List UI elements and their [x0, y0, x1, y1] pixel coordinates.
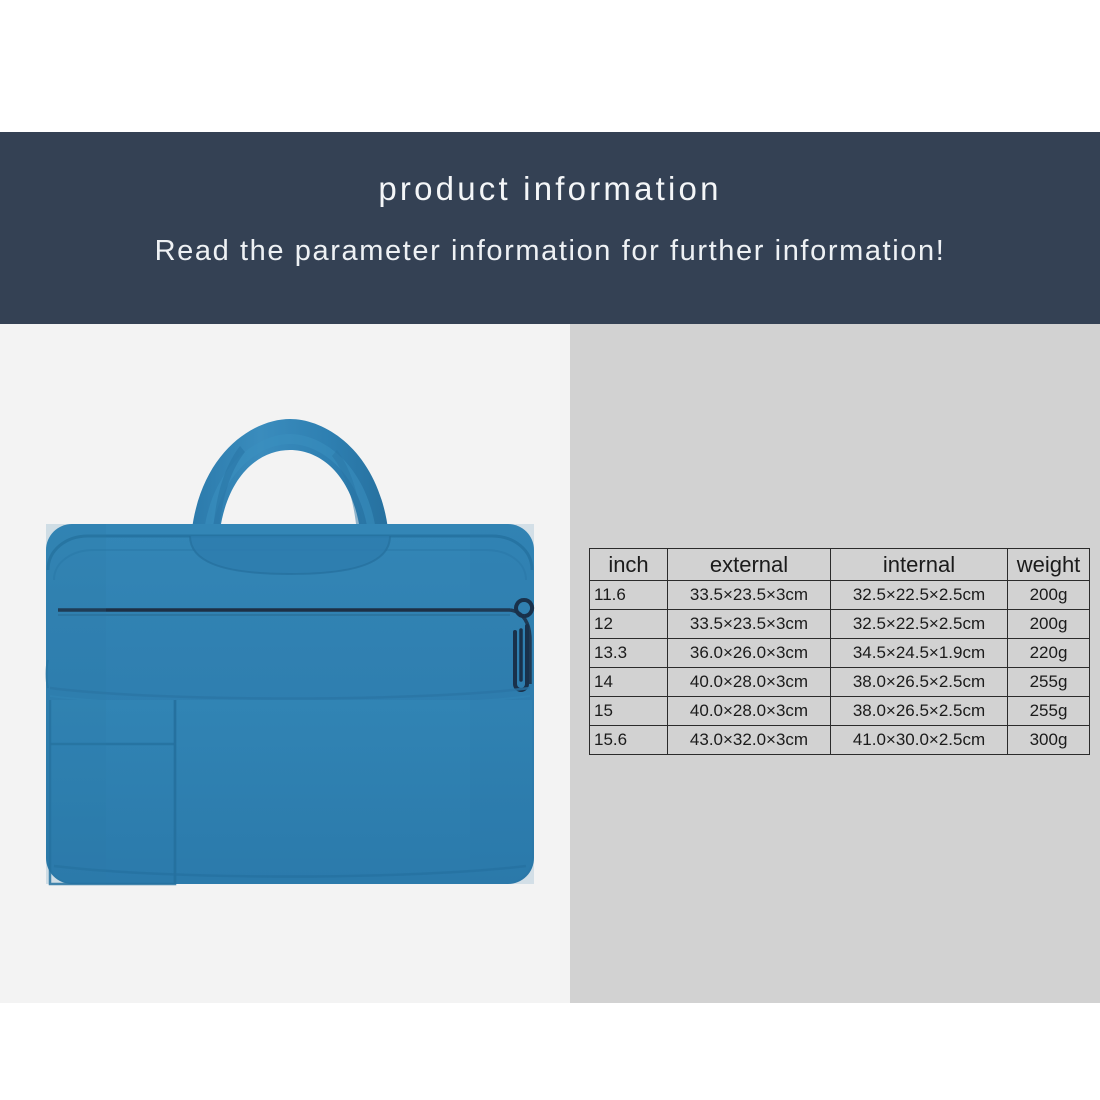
cell-external: 40.0×28.0×3cm: [668, 668, 831, 697]
cell-weight: 200g: [1008, 610, 1090, 639]
cell-weight: 300g: [1008, 726, 1090, 755]
product-image-panel: [0, 324, 570, 1003]
table-row: 13.3 36.0×26.0×3cm 34.5×24.5×1.9cm 220g: [590, 639, 1090, 668]
cell-weight: 200g: [1008, 581, 1090, 610]
page-title: product information: [0, 170, 1100, 208]
cell-internal: 38.0×26.5×2.5cm: [831, 668, 1008, 697]
cell-external: 36.0×26.0×3cm: [668, 639, 831, 668]
cell-inch: 14: [590, 668, 668, 697]
table-row: 15 40.0×28.0×3cm 38.0×26.5×2.5cm 255g: [590, 697, 1090, 726]
cell-weight: 255g: [1008, 697, 1090, 726]
content-area: inch external internal weight 11.6 33.5×…: [0, 324, 1100, 1003]
laptop-bag-illustration: [40, 384, 540, 924]
spec-table-wrapper: inch external internal weight 11.6 33.5×…: [589, 548, 1089, 755]
column-header-external: external: [668, 549, 831, 581]
cell-internal: 38.0×26.5×2.5cm: [831, 697, 1008, 726]
cell-internal: 34.5×24.5×1.9cm: [831, 639, 1008, 668]
cell-inch: 12: [590, 610, 668, 639]
cell-external: 33.5×23.5×3cm: [668, 581, 831, 610]
table-row: 12 33.5×23.5×3cm 32.5×22.5×2.5cm 200g: [590, 610, 1090, 639]
cell-internal: 41.0×30.0×2.5cm: [831, 726, 1008, 755]
table-row: 15.6 43.0×32.0×3cm 41.0×30.0×2.5cm 300g: [590, 726, 1090, 755]
top-white-band: [0, 0, 1100, 132]
cell-weight: 220g: [1008, 639, 1090, 668]
cell-external: 33.5×23.5×3cm: [668, 610, 831, 639]
bag-front-pocket: [48, 700, 532, 884]
cell-external: 40.0×28.0×3cm: [668, 697, 831, 726]
cell-inch: 11.6: [590, 581, 668, 610]
cell-weight: 255g: [1008, 668, 1090, 697]
cell-inch: 15: [590, 697, 668, 726]
table-row: 14 40.0×28.0×3cm 38.0×26.5×2.5cm 255g: [590, 668, 1090, 697]
product-information-page: product information Read the parameter i…: [0, 0, 1100, 1100]
page-subtitle: Read the parameter information for furth…: [0, 235, 1100, 268]
column-header-inch: inch: [590, 549, 668, 581]
cell-inch: 13.3: [590, 639, 668, 668]
header-banner: product information Read the parameter i…: [0, 132, 1100, 324]
laptop-bag-image: [40, 384, 540, 924]
cell-internal: 32.5×22.5×2.5cm: [831, 610, 1008, 639]
column-header-internal: internal: [831, 549, 1008, 581]
cell-internal: 32.5×22.5×2.5cm: [831, 581, 1008, 610]
cell-inch: 15.6: [590, 726, 668, 755]
table-row: 11.6 33.5×23.5×3cm 32.5×22.5×2.5cm 200g: [590, 581, 1090, 610]
spec-table: inch external internal weight 11.6 33.5×…: [589, 548, 1090, 755]
table-header-row: inch external internal weight: [590, 549, 1090, 581]
column-header-weight: weight: [1008, 549, 1090, 581]
spec-panel: inch external internal weight 11.6 33.5×…: [570, 324, 1100, 1003]
cell-external: 43.0×32.0×3cm: [668, 726, 831, 755]
